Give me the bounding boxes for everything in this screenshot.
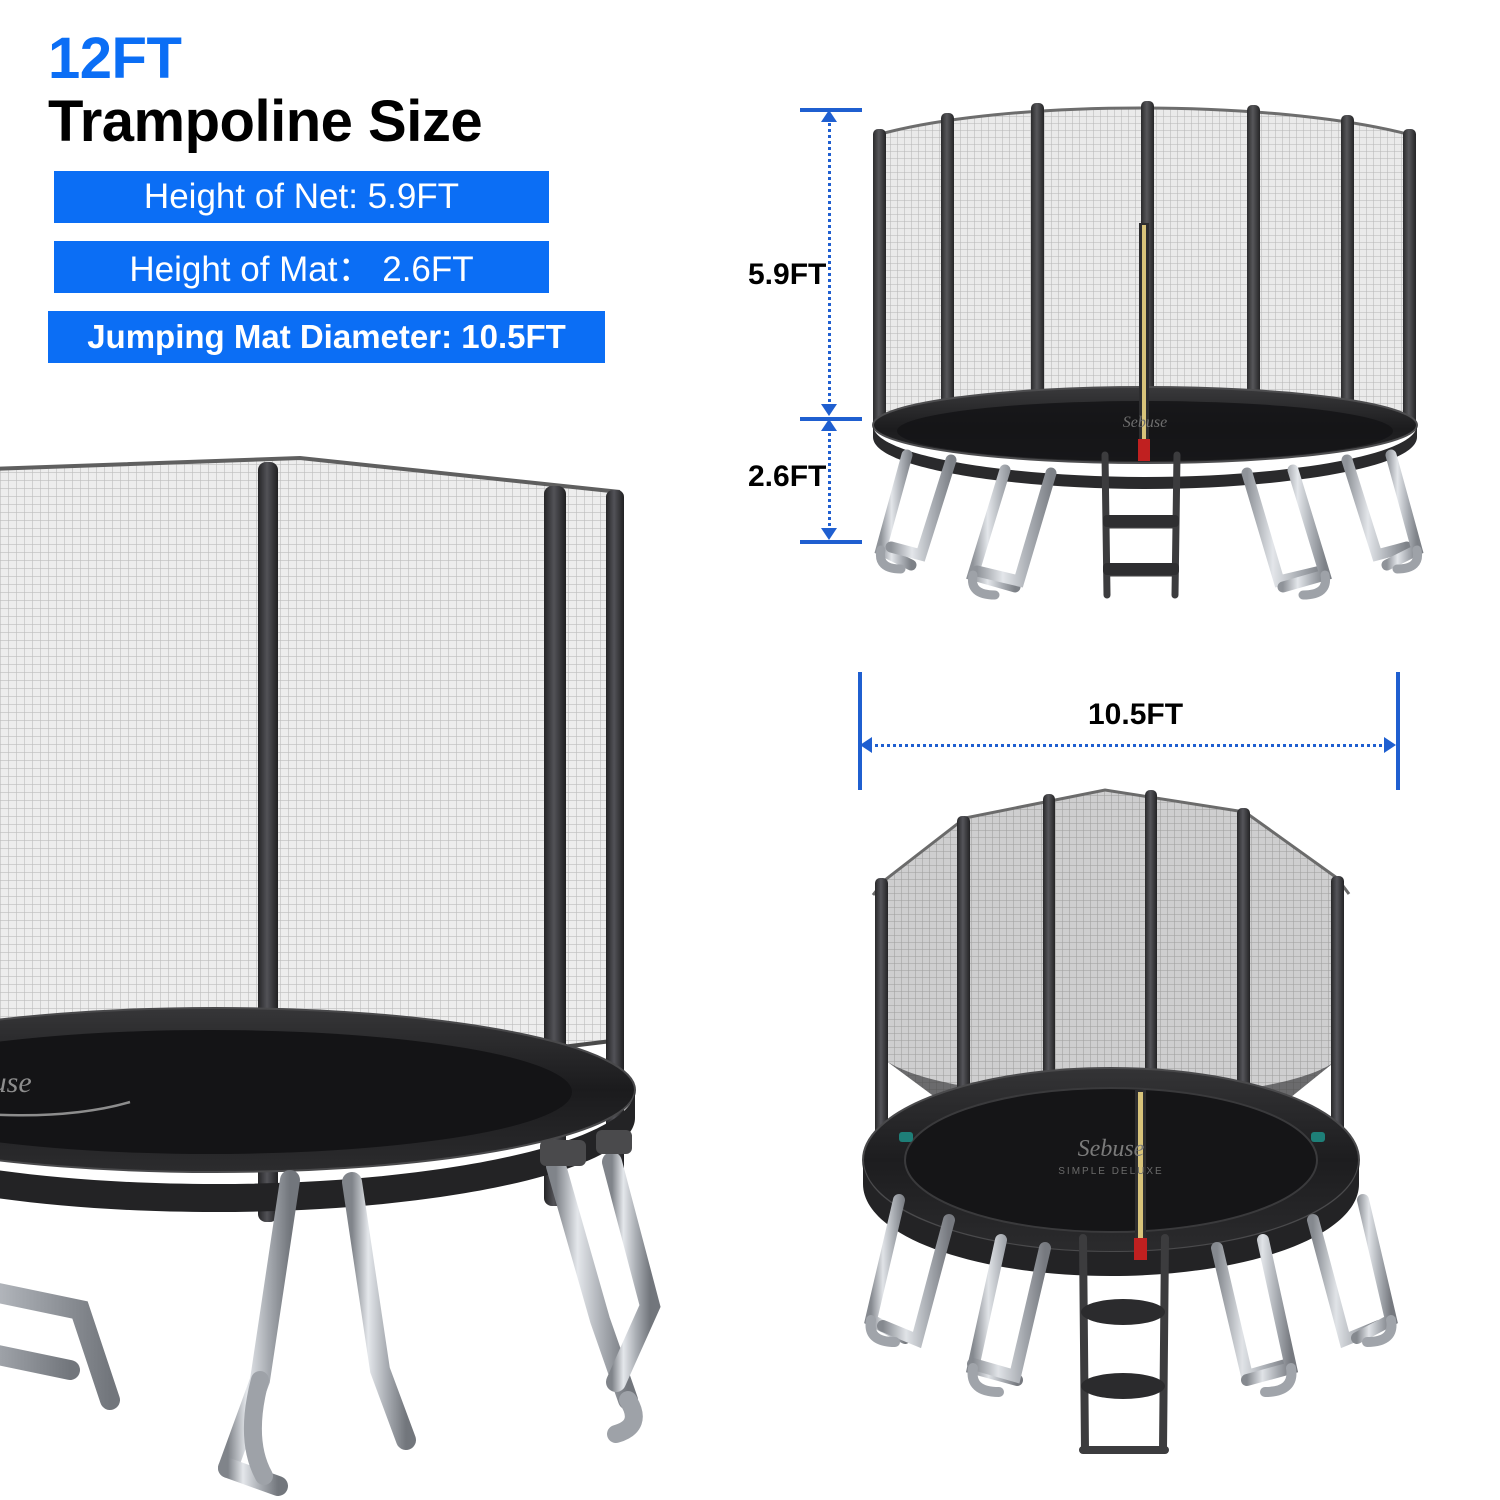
spec-mat-diameter: Jumping Mat Diameter: 10.5FT <box>48 311 605 363</box>
title-block: 12FT Trampoline Size Height of Net: 5.9F… <box>48 30 648 363</box>
svg-text:SIMPLE DELUXE: SIMPLE DELUXE <box>1058 1166 1163 1177</box>
svg-text:Sebuse: Sebuse <box>0 1066 32 1099</box>
spec-mat-height: Height of Mat： 2.6FT <box>54 241 549 293</box>
dim-cap-mat-bottom <box>800 540 862 544</box>
page-title: Trampoline Size <box>48 92 648 153</box>
dim-arrow-mat-top <box>821 419 837 431</box>
svg-text:Sebuse: Sebuse <box>1078 1136 1145 1162</box>
page-title-size: 12FT <box>48 30 648 88</box>
svg-text:Sebuse: Sebuse <box>1123 414 1167 431</box>
dim-label-diameter: 10.5FT <box>1088 698 1183 732</box>
dim-line-diameter <box>868 744 1388 747</box>
dim-arrow-diam-right <box>1384 737 1396 753</box>
trampoline-perspective-view: Sebuse SIMPLE DELUXE <box>845 760 1425 1480</box>
trampoline-closeup-view: Sebuse <box>0 440 720 1500</box>
dim-arrow-net-top <box>821 110 837 122</box>
dim-arrow-diam-left <box>860 737 872 753</box>
dim-line-net-height <box>828 118 831 408</box>
dim-arrow-mat-bottom <box>821 528 837 540</box>
trampoline-side-view: Sebuse <box>855 95 1445 625</box>
dim-label-net-height: 5.9FT <box>748 258 826 292</box>
dim-label-mat-height: 2.6FT <box>748 460 826 494</box>
dim-line-mat-height <box>828 427 831 532</box>
dim-arrow-net-bottom <box>821 404 837 416</box>
spec-net-height: Height of Net: 5.9FT <box>54 171 549 223</box>
